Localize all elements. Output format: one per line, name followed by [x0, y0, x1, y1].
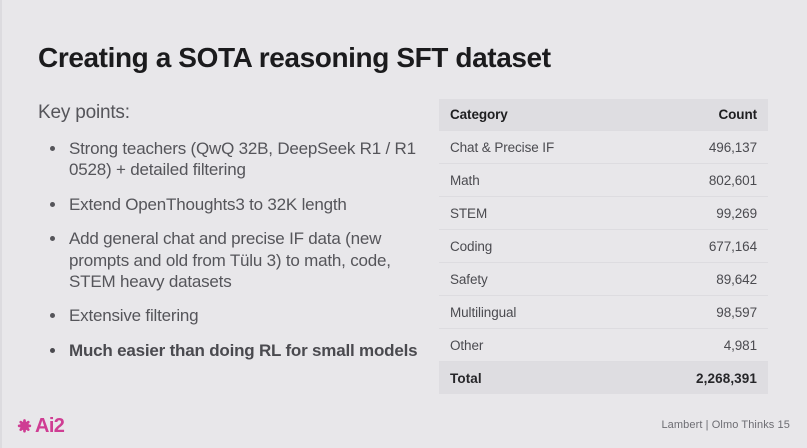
- list-item: Extend OpenThoughts3 to 32K length: [50, 194, 418, 215]
- table-total-row: Total 2,268,391: [439, 362, 768, 395]
- column-header-category: Category: [439, 99, 604, 131]
- list-item-label: Extensive filtering: [69, 306, 198, 325]
- table-body: Chat & Precise IF 496,137 Math 802,601 S…: [439, 131, 768, 395]
- cell-total-label: Total: [439, 362, 604, 395]
- key-points-panel: Key points: Strong teachers (QwQ 32B, De…: [38, 102, 418, 374]
- slide-canvas: Creating a SOTA reasoning SFT dataset Ke…: [0, 0, 807, 448]
- cell-count: 4,981: [604, 329, 769, 362]
- key-points-heading: Key points:: [38, 102, 418, 124]
- list-item: Much easier than doing RL for small mode…: [50, 340, 418, 361]
- cell-category: Coding: [439, 230, 604, 263]
- table-header: Category Count: [439, 99, 768, 131]
- list-item-label: Extend OpenThoughts3 to 32K length: [69, 195, 347, 214]
- ai2-wordmark: Ai2: [35, 416, 64, 436]
- bullet-dot-icon: [50, 202, 55, 207]
- table-row: STEM 99,269: [439, 197, 768, 230]
- bullet-dot-icon: [50, 236, 55, 241]
- cell-count: 98,597: [604, 296, 769, 329]
- cell-category: Other: [439, 329, 604, 362]
- cell-category: STEM: [439, 197, 604, 230]
- cell-category: Chat & Precise IF: [439, 131, 604, 164]
- cell-count: 89,642: [604, 263, 769, 296]
- table-row: Safety 89,642: [439, 263, 768, 296]
- cell-count: 496,137: [604, 131, 769, 164]
- list-item: Strong teachers (QwQ 32B, DeepSeek R1 / …: [50, 138, 418, 181]
- cell-count: 99,269: [604, 197, 769, 230]
- bullet-dot-icon: [50, 348, 55, 353]
- bullet-dot-icon: [50, 313, 55, 318]
- table: Category Count Chat & Precise IF 496,137…: [439, 99, 768, 394]
- list-item-label: Much easier than doing RL for small mode…: [69, 341, 417, 360]
- list-item: Add general chat and precise IF data (ne…: [50, 228, 418, 292]
- column-header-count: Count: [604, 99, 769, 131]
- cell-total-count: 2,268,391: [604, 362, 769, 395]
- table-row: Coding 677,164: [439, 230, 768, 263]
- table-row: Other 4,981: [439, 329, 768, 362]
- list-item-label: Strong teachers (QwQ 32B, DeepSeek R1 / …: [69, 139, 416, 179]
- key-points-list: Strong teachers (QwQ 32B, DeepSeek R1 / …: [38, 138, 418, 361]
- cell-category: Multilingual: [439, 296, 604, 329]
- table-row: Multilingual 98,597: [439, 296, 768, 329]
- footer-attribution: Lambert | Olmo Thinks 15: [661, 419, 790, 431]
- table-row: Math 802,601: [439, 164, 768, 197]
- cell-count: 677,164: [604, 230, 769, 263]
- cell-count: 802,601: [604, 164, 769, 197]
- page-title: Creating a SOTA reasoning SFT dataset: [38, 42, 551, 74]
- ai2-logo: Ai2: [16, 416, 64, 436]
- table-header-row: Category Count: [439, 99, 768, 131]
- dataset-breakdown-table: Category Count Chat & Precise IF 496,137…: [439, 99, 768, 394]
- list-item-label: Add general chat and precise IF data (ne…: [69, 229, 391, 291]
- cell-category: Safety: [439, 263, 604, 296]
- cell-category: Math: [439, 164, 604, 197]
- list-item: Extensive filtering: [50, 305, 418, 326]
- bullet-dot-icon: [50, 146, 55, 151]
- ai2-sparkle-icon: [16, 418, 33, 435]
- table-row: Chat & Precise IF 496,137: [439, 131, 768, 164]
